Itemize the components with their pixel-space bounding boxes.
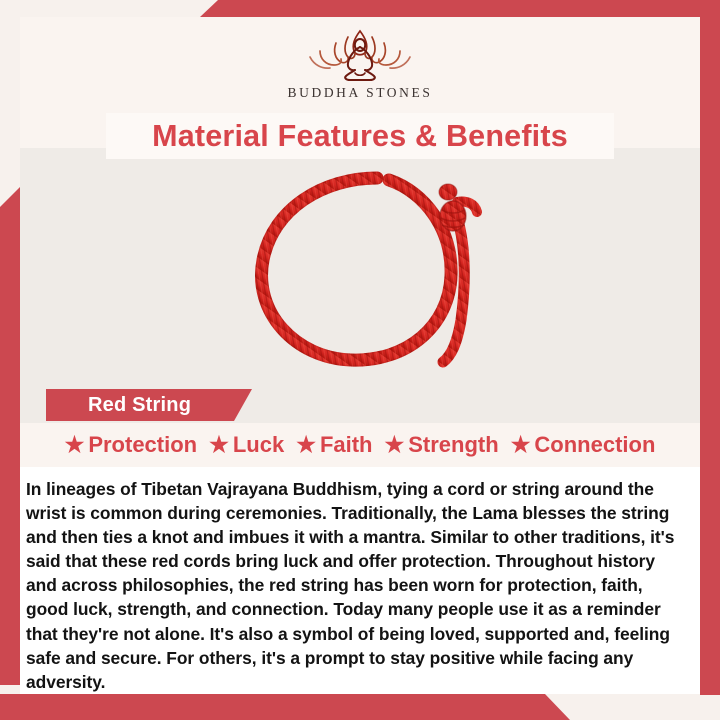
benefits-row: ★ Protection ★ Luck ★ Faith ★ Strength ★… [20,423,700,467]
title-banner: Material Features & Benefits [106,113,614,159]
benefit-label: Faith [320,432,373,458]
product-image-area [20,148,700,387]
star-icon: ★ [65,434,85,456]
star-icon: ★ [385,434,405,456]
content-card: BUDDHA STONES [20,17,700,694]
infographic-page: BUDDHA STONES [0,0,720,720]
product-tag: Red String [46,389,252,421]
benefit-item-connection: ★ Connection [508,432,659,458]
frame-bottom-bar [0,694,570,720]
benefit-item-protection: ★ Protection [62,432,201,458]
logo: BUDDHA STONES [288,25,433,101]
lotus-meditation-icon [304,25,416,83]
red-braided-string-bracelet-image [229,160,491,376]
frame-right-bar [700,17,720,695]
star-icon: ★ [209,434,229,456]
benefit-label: Connection [534,432,655,458]
frame-top-bar [200,0,720,17]
benefit-item-faith: ★ Faith [293,432,375,458]
benefit-item-strength: ★ Strength [382,432,502,458]
star-icon: ★ [296,434,316,456]
page-title: Material Features & Benefits [152,119,568,154]
benefit-label: Luck [233,432,284,458]
description-panel: In lineages of Tibetan Vajrayana Buddhis… [20,467,700,694]
description-text: In lineages of Tibetan Vajrayana Buddhis… [26,477,686,694]
product-tag-label: Red String [46,394,191,417]
star-icon: ★ [511,434,531,456]
benefit-label: Strength [408,432,498,458]
product-tag-row: Red String [20,387,700,423]
benefit-item-luck: ★ Luck [206,432,287,458]
brand-name: BUDDHA STONES [288,85,433,101]
benefit-label: Protection [88,432,197,458]
